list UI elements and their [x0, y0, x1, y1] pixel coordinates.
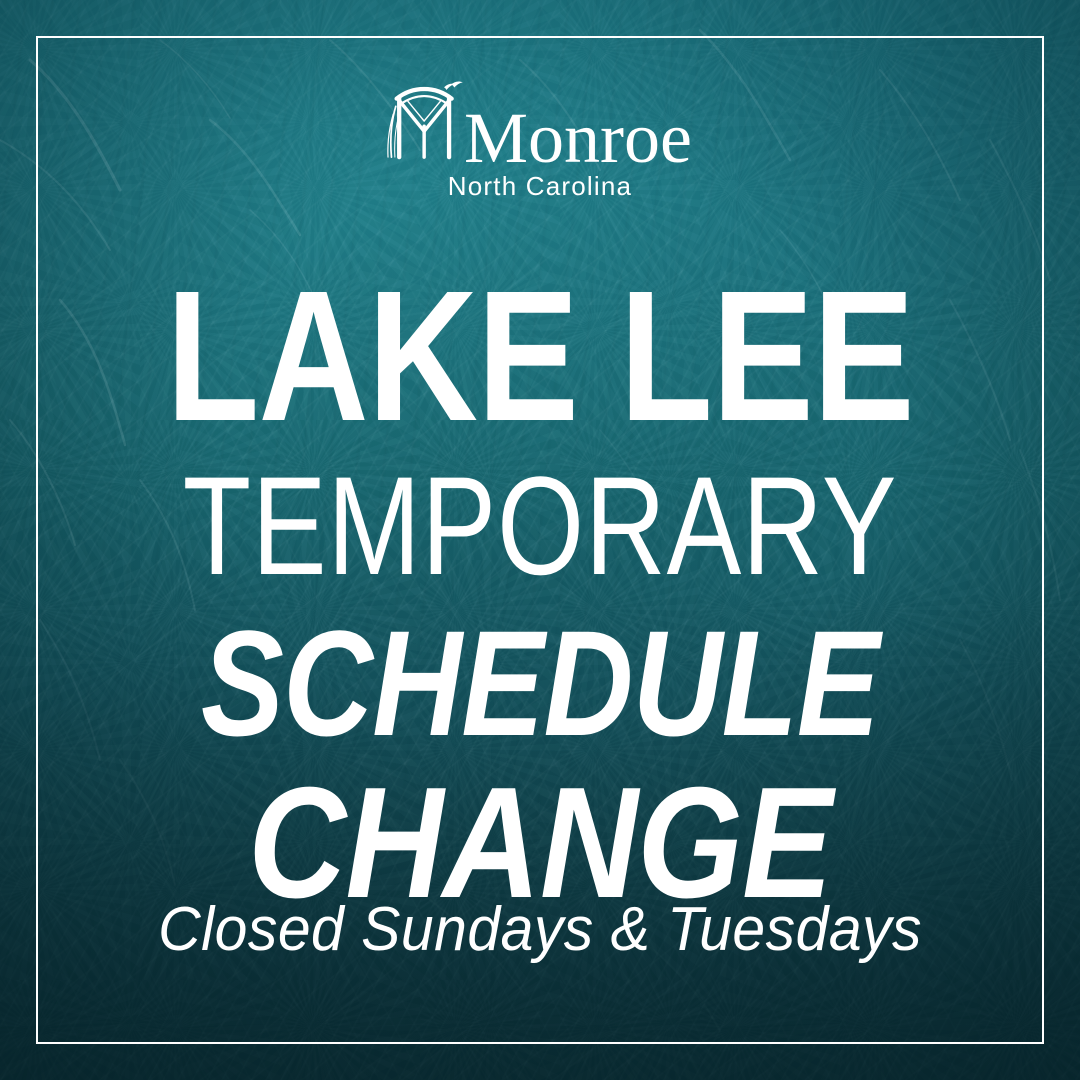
logo-mark-row: Monroe — [382, 78, 698, 164]
headline-line-1: LAKE LEE — [97, 264, 983, 450]
poster-content: Monroe North Carolina LAKE LEE TEMPORARY… — [0, 0, 1080, 1080]
poster-canvas: Monroe North Carolina LAKE LEE TEMPORARY… — [0, 0, 1080, 1080]
bird-icon — [444, 81, 463, 90]
monroe-bridge-mark — [382, 78, 468, 164]
subtitle-text: Closed Sundays & Tuesdays — [27, 894, 1053, 965]
headline-line-2: TEMPORARY — [108, 456, 972, 596]
headline-block: LAKE LEE TEMPORARY SCHEDULE CHANGE — [0, 264, 1080, 922]
headline-line-3: SCHEDULE — [92, 608, 988, 758]
logo-wordmark: Monroe — [464, 110, 692, 166]
monroe-logo: Monroe North Carolina — [390, 78, 690, 202]
